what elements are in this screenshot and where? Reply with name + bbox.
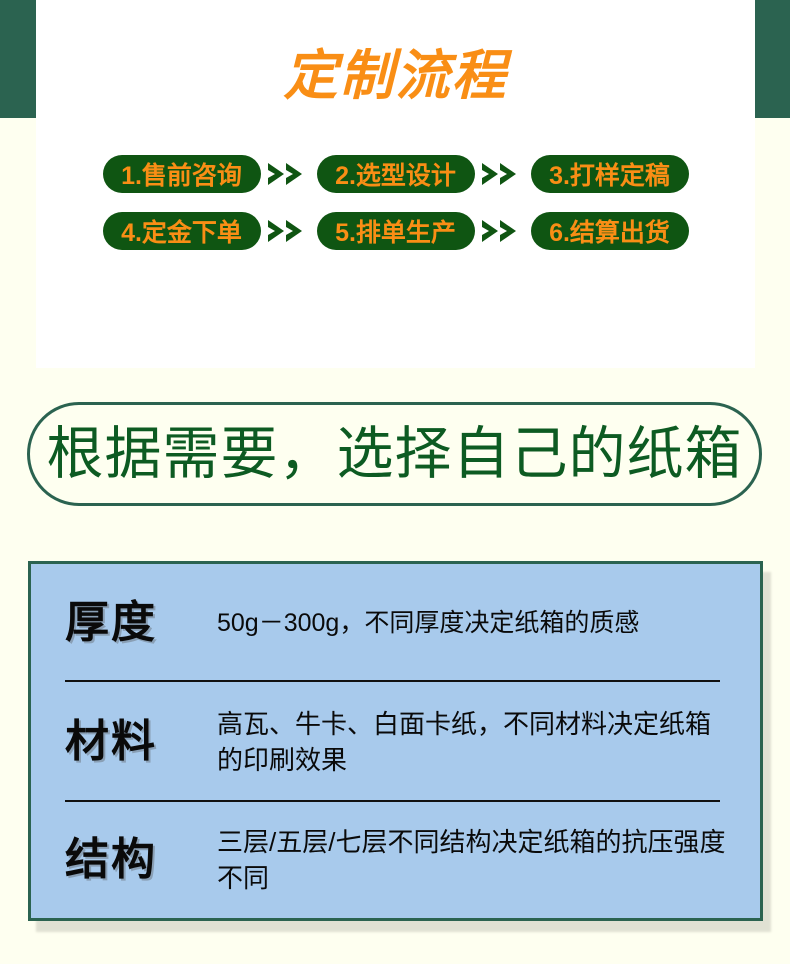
process-step-row-2: 4.定金下单 5.排单生产 6.结算出货 — [36, 212, 755, 250]
headline-banner: 根据需要，选择自己的纸箱 — [27, 402, 762, 506]
green-accent-block-right — [755, 0, 790, 118]
spec-row-structure: 结构 三层/五层/七层不同结构决定纸箱的抗压强度不同 — [65, 802, 726, 918]
process-card: 定制流程 1.售前咨询 2.选型设计 3.打样定稿 — [36, 0, 755, 368]
spec-label-material: 材料 — [65, 717, 217, 767]
process-steps: 1.售前咨询 2.选型设计 3.打样定稿 4.定金下单 — [36, 155, 755, 269]
step-badge-1[interactable]: 1.售前咨询 — [103, 155, 261, 193]
step-badge-5[interactable]: 5.排单生产 — [317, 212, 475, 250]
headline-text: 根据需要，选择自己的纸箱 — [47, 423, 743, 485]
spec-label-structure: 结构 — [65, 835, 217, 885]
chevron-right-double-icon — [475, 161, 531, 187]
spec-desc-material: 高瓦、牛卡、白面卡纸，不同材料决定纸箱的印刷效果 — [217, 706, 726, 778]
step-badge-6[interactable]: 6.结算出货 — [531, 212, 689, 250]
green-accent-block-left — [0, 0, 37, 118]
step-badge-2[interactable]: 2.选型设计 — [317, 155, 475, 193]
chevron-right-double-icon — [261, 218, 317, 244]
process-section: 定制流程 1.售前咨询 2.选型设计 3.打样定稿 — [0, 0, 790, 368]
spec-label-thickness: 厚度 — [65, 598, 217, 648]
chevron-right-double-icon — [475, 218, 531, 244]
page-title: 定制流程 — [36, 46, 755, 106]
spec-panel: 厚度 50g－300g，不同厚度决定纸箱的质感 材料 高瓦、牛卡、白面卡纸，不同… — [28, 561, 763, 921]
step-badge-3[interactable]: 3.打样定稿 — [531, 155, 689, 193]
process-step-row-1: 1.售前咨询 2.选型设计 3.打样定稿 — [36, 155, 755, 193]
spec-row-thickness: 厚度 50g－300g，不同厚度决定纸箱的质感 — [65, 564, 726, 682]
spec-desc-structure: 三层/五层/七层不同结构决定纸箱的抗压强度不同 — [217, 824, 726, 896]
spec-row-material: 材料 高瓦、牛卡、白面卡纸，不同材料决定纸箱的印刷效果 — [65, 682, 726, 802]
spec-desc-thickness: 50g－300g，不同厚度决定纸箱的质感 — [217, 605, 639, 641]
step-badge-4[interactable]: 4.定金下单 — [103, 212, 261, 250]
chevron-right-double-icon — [261, 161, 317, 187]
